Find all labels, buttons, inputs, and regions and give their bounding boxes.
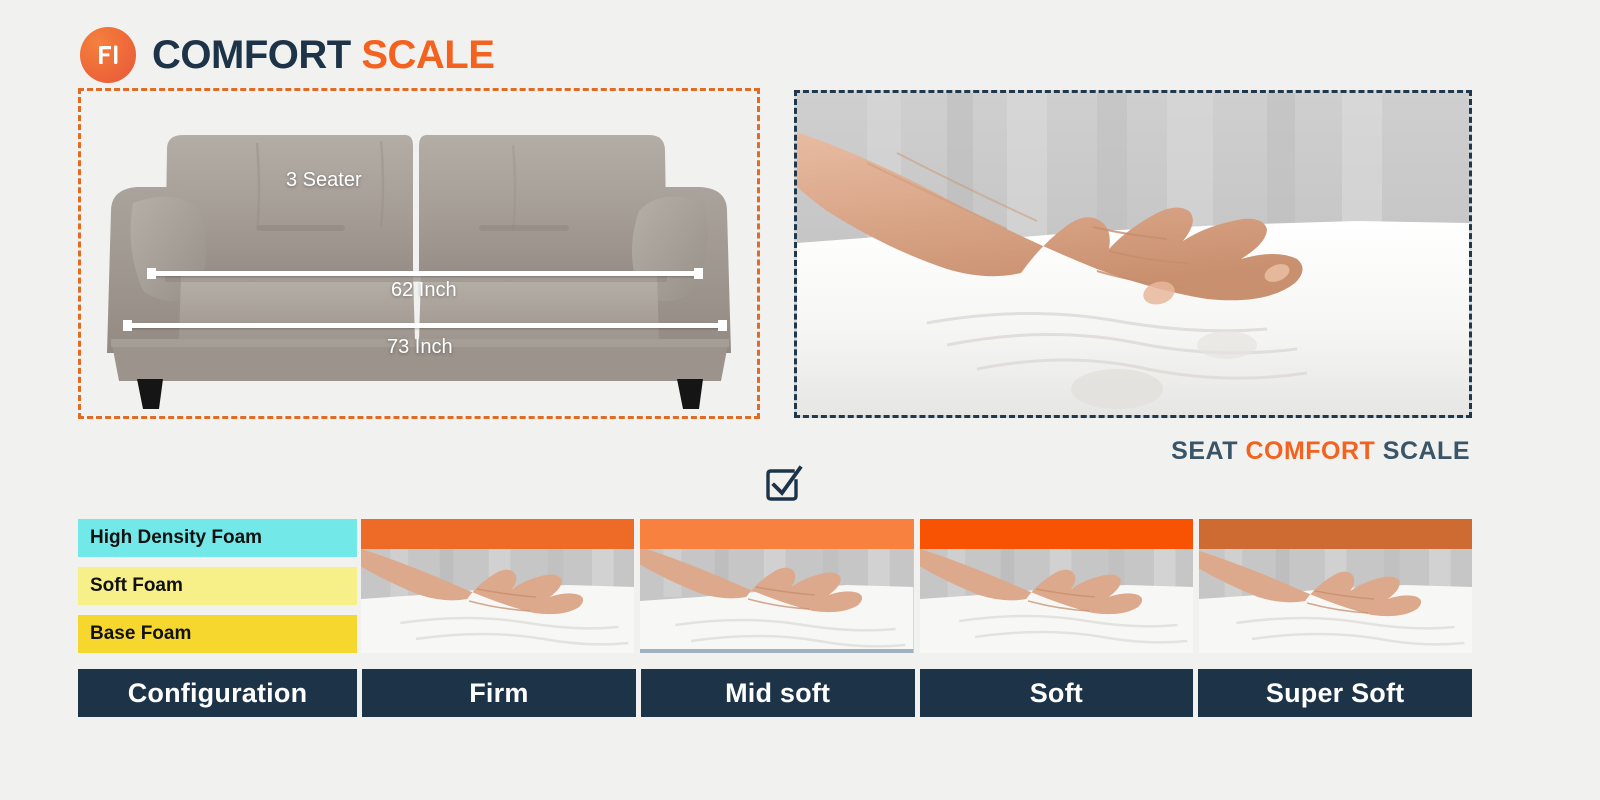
caption-pre: SEAT [1171,437,1238,465]
configuration-option-mid-soft[interactable]: Mid soft [641,669,915,717]
page-title-accent: SCALE [361,33,494,77]
foam-layer-high-density: High Density Foam [78,519,357,557]
seat-width-dimension-line [149,271,701,276]
comfort-bar-soft [920,519,1193,549]
comfort-bar-firm [361,519,634,549]
comfort-scale-infographic: COMFORT SCALE [0,0,1600,800]
overall-width-dimension-line [125,323,725,328]
caption-post: SCALE [1383,437,1470,465]
configuration-option-label: Soft [1030,678,1083,709]
seat-comfort-photo-panel [794,90,1472,418]
page-title: COMFORT SCALE [152,35,494,75]
caption-accent: COMFORT [1245,437,1375,465]
configuration-option-label: Super Soft [1266,678,1405,709]
sofa-dimensions-panel: 3 Seater 62 Inch 73 Inch [78,88,760,419]
foam-layer-labels: High Density Foam Soft Foam Base Foam [78,519,357,663]
configuration-option-label: Firm [469,678,528,709]
sofa-seater-label: 3 Seater [286,169,362,192]
comfort-thumbnail-row [361,519,1472,653]
comfort-bar-super-soft [1199,519,1472,549]
foam-layer-label: High Density Foam [90,527,262,549]
configuration-option-firm[interactable]: Firm [362,669,636,717]
foam-layer-label: Soft Foam [90,575,183,597]
foam-layer-soft: Soft Foam [78,567,357,605]
configuration-header-cell: Configuration [78,669,357,717]
fi-roundel-logo-icon [80,27,136,83]
configuration-option-label: Mid soft [725,678,830,709]
comfort-thumbnail-mid-soft[interactable] [640,519,913,653]
configuration-option-super-soft[interactable]: Super Soft [1198,669,1472,717]
configuration-header-label: Configuration [128,678,308,709]
sofa-image: 3 Seater 62 Inch 73 Inch [81,91,757,416]
configuration-row: Configuration Firm Mid soft Soft Super S… [78,669,1472,717]
page-title-primary: COMFORT [152,33,351,77]
checkbox-checked-icon [762,463,804,505]
seat-comfort-scale-caption: SEAT COMFORT SCALE [1171,437,1470,466]
comfort-thumbnail-soft[interactable] [920,519,1193,653]
hand-on-foam-image [797,93,1469,415]
overall-width-label: 73 Inch [387,336,453,359]
comfort-thumbnail-firm[interactable] [361,519,634,653]
comfort-bar-mid-soft [640,519,913,549]
seat-width-label: 62 Inch [391,279,457,302]
comfort-thumbnail-super-soft[interactable] [1199,519,1472,653]
foam-layer-label: Base Foam [90,623,191,645]
page-header: COMFORT SCALE [80,27,494,83]
configuration-option-soft[interactable]: Soft [920,669,1194,717]
foam-layer-base: Base Foam [78,615,357,653]
